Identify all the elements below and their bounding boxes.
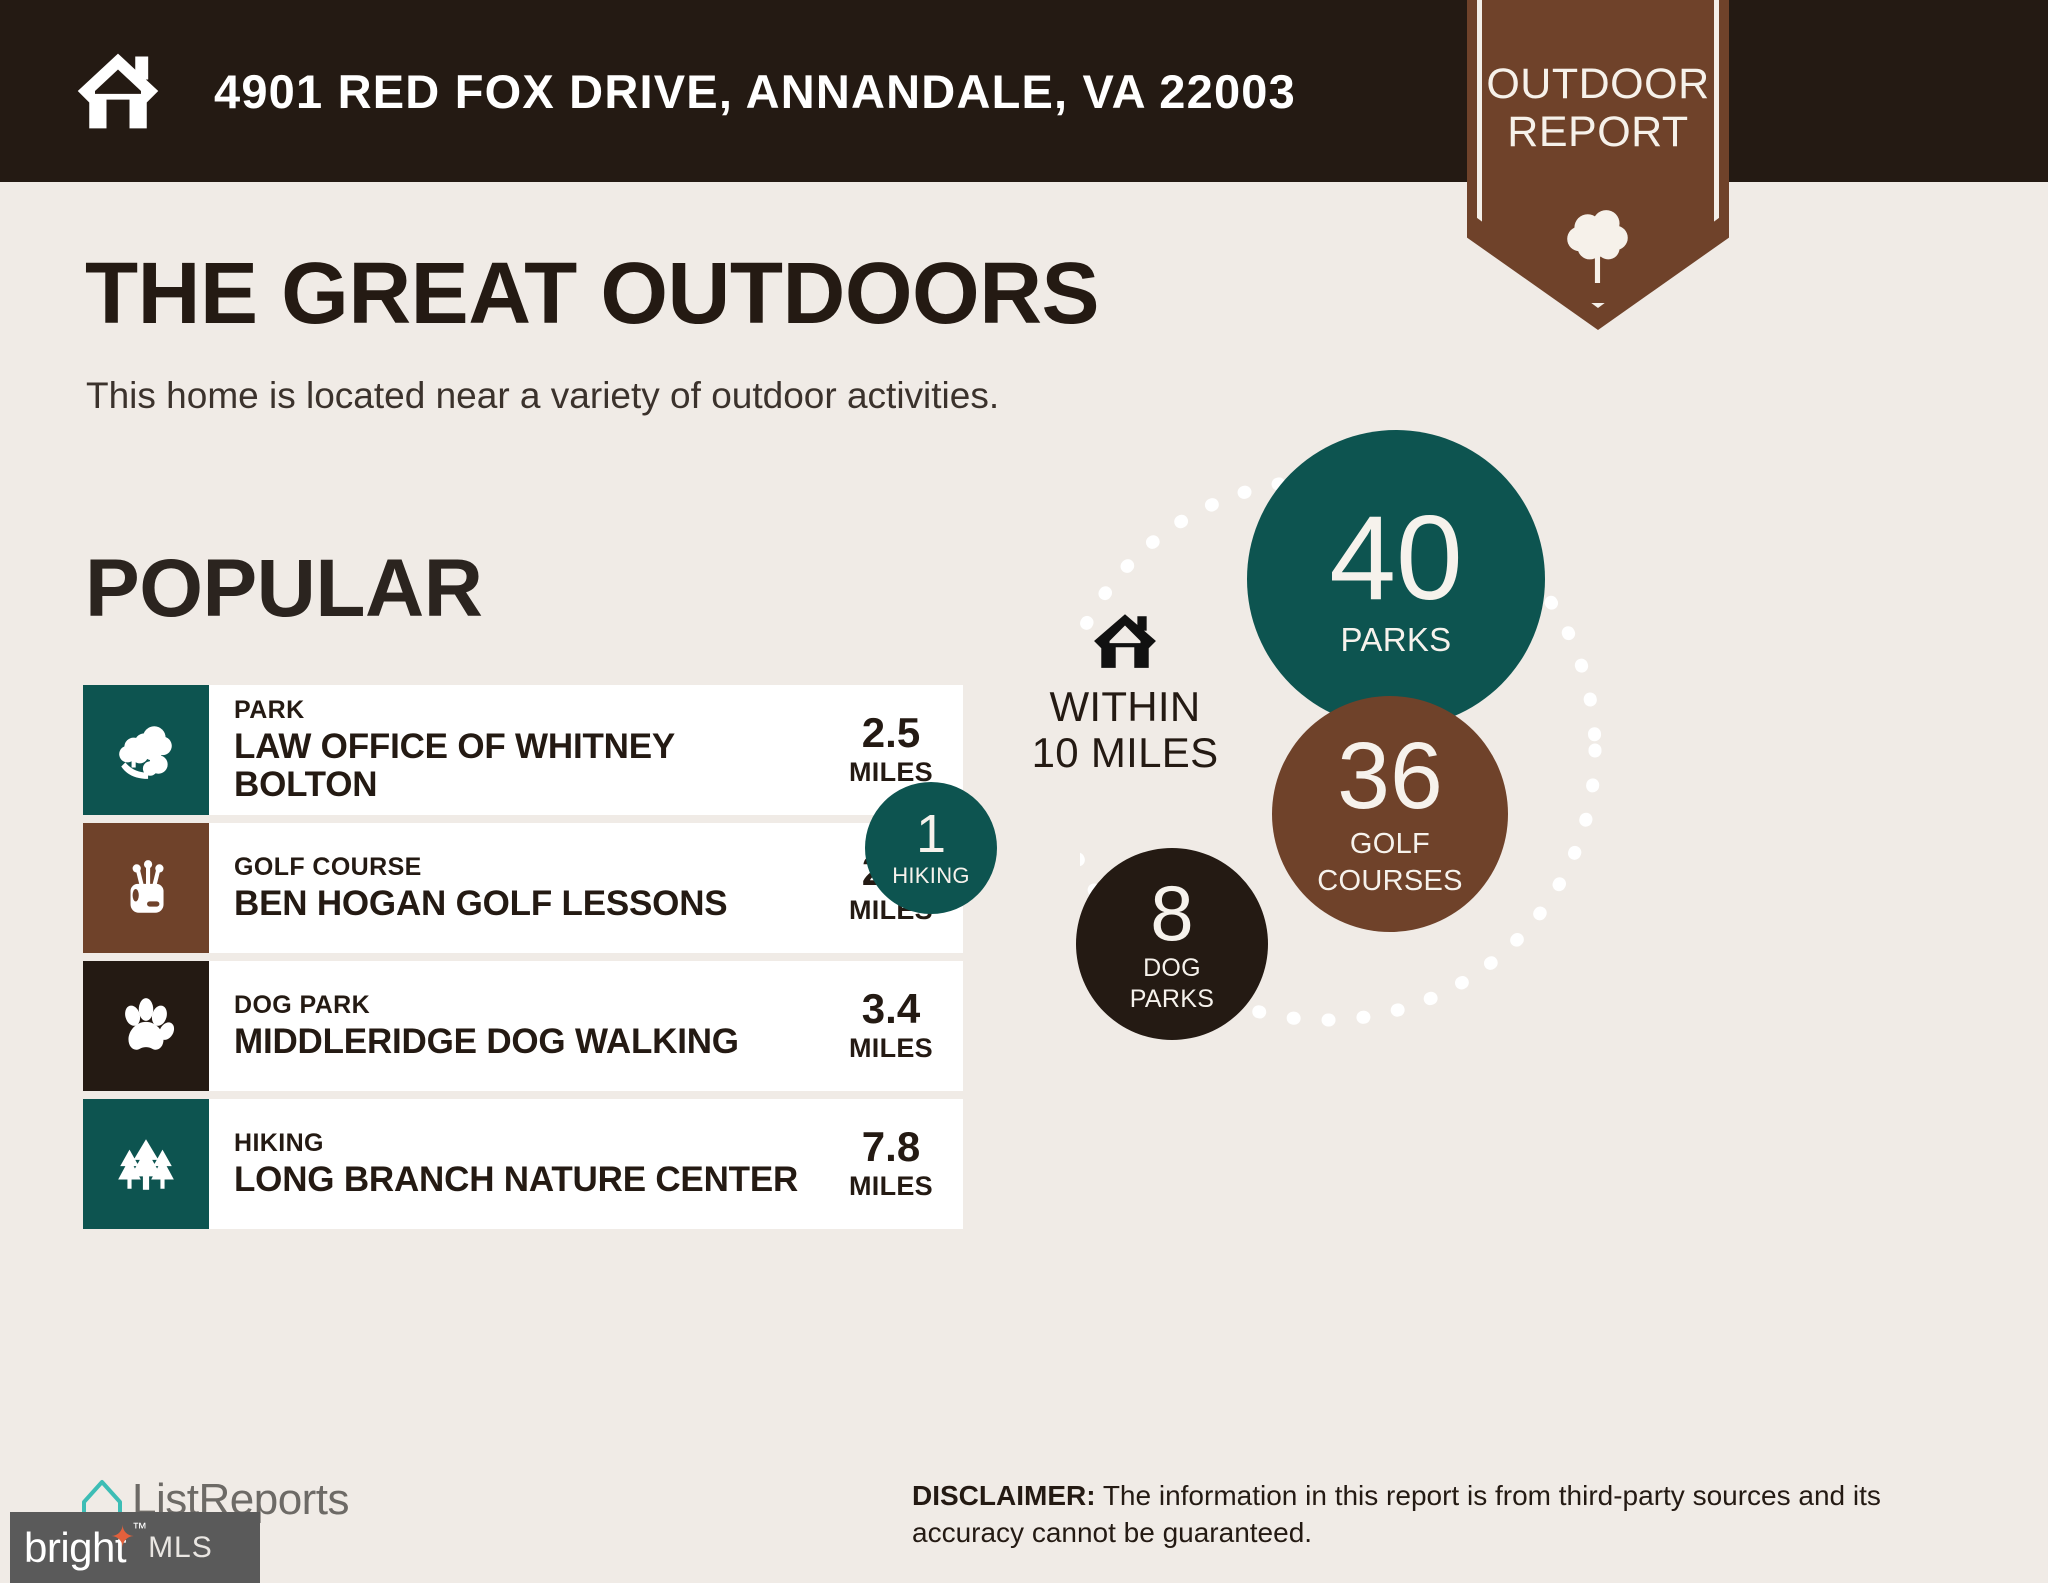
bubble-hiking-count: 1 — [916, 809, 946, 860]
star-icon: ✦ — [110, 1520, 135, 1555]
bubble-dogparks-label-line1: DOG — [1143, 955, 1201, 981]
list-item-distance: 7.8 MILES — [827, 1099, 963, 1229]
home-icon — [72, 45, 164, 137]
page-title: THE GREAT OUTDOORS — [85, 250, 1099, 337]
bubble-hiking[interactable]: 1 HIKING — [865, 782, 997, 914]
section-heading-popular: POPULAR — [85, 548, 482, 630]
bubble-golf-label-line2: COURSES — [1317, 866, 1463, 896]
list-item-category: DOG PARK — [234, 991, 821, 1020]
list-item-text: DOG PARK MIDDLERIDGE DOG WALKING — [209, 961, 827, 1091]
list-item-text: PARK LAW OFFICE OF WHITNEY BOLTON — [209, 685, 827, 815]
paw-print-icon — [83, 961, 209, 1091]
bubble-parks[interactable]: 40 PARKS — [1247, 430, 1545, 728]
list-item-name: BEN HOGAN GOLF LESSONS — [234, 885, 821, 923]
tree-icon — [1565, 205, 1631, 283]
list-item-distance: 3.4 MILES — [827, 961, 963, 1091]
home-icon — [1092, 610, 1158, 672]
distance-value: 2.5 — [862, 712, 920, 754]
mls-text: MLS — [148, 1531, 213, 1565]
list-item-text: HIKING LONG BRANCH NATURE CENTER — [209, 1099, 827, 1229]
bubble-dogparks-label-line2: PARKS — [1130, 986, 1214, 1012]
bubble-golf-courses[interactable]: 36 GOLF COURSES — [1272, 696, 1508, 932]
distance-unit: MILES — [849, 1033, 933, 1064]
list-item-name: LAW OFFICE OF WHITNEY BOLTON — [234, 728, 821, 804]
list-item-category: GOLF COURSE — [234, 853, 821, 882]
list-item-category: HIKING — [234, 1129, 821, 1158]
golf-bag-icon — [83, 823, 209, 953]
park-trees-icon — [83, 685, 209, 815]
page-subtitle: This home is located near a variety of o… — [86, 375, 999, 417]
list-item-text: GOLF COURSE BEN HOGAN GOLF LESSONS — [209, 823, 827, 953]
disclaimer-label: DISCLAIMER: — [912, 1480, 1096, 1511]
distance-value: 7.8 — [862, 1126, 920, 1168]
list-item-name: LONG BRANCH NATURE CENTER — [234, 1161, 821, 1199]
bright-mls-logo: bright ✦ ™ MLS — [10, 1512, 260, 1583]
list-item[interactable]: HIKING LONG BRANCH NATURE CENTER 7.8 MIL… — [83, 1099, 963, 1229]
bright-wordmark: bright ✦ ™ — [24, 1524, 126, 1572]
bubble-parks-label: PARKS — [1341, 623, 1452, 658]
bubble-parks-count: 40 — [1329, 501, 1462, 615]
amenity-bubble-chart: WITHIN 10 MILES 40 PARKS 36 GOLF COURSES… — [1080, 430, 1960, 1330]
property-address: 4901 RED FOX DRIVE, ANNANDALE, VA 22003 — [214, 64, 1296, 119]
disclaimer: DISCLAIMER: The information in this repo… — [912, 1478, 1972, 1552]
trademark-symbol: ™ — [132, 1520, 147, 1537]
bubble-golf-count: 36 — [1337, 731, 1443, 821]
center-text-line1: WITHIN — [960, 684, 1290, 730]
bubble-hiking-label: HIKING — [892, 864, 970, 887]
distance-value: 3.4 — [862, 988, 920, 1030]
badge-title: OUTDOOR REPORT — [1467, 60, 1729, 156]
badge-title-line2: REPORT — [1467, 108, 1729, 156]
distance-unit: MILES — [849, 1171, 933, 1202]
list-item[interactable]: GOLF COURSE BEN HOGAN GOLF LESSONS 2.8 M… — [83, 823, 963, 953]
list-item[interactable]: PARK LAW OFFICE OF WHITNEY BOLTON 2.5 MI… — [83, 685, 963, 815]
outdoor-report-badge: OUTDOOR REPORT — [1467, 0, 1729, 330]
popular-places-list: PARK LAW OFFICE OF WHITNEY BOLTON 2.5 MI… — [83, 685, 963, 1237]
bubble-dogparks-count: 8 — [1150, 876, 1193, 950]
chart-center-label: WITHIN 10 MILES — [960, 610, 1290, 776]
pine-trees-icon — [83, 1099, 209, 1229]
list-item-name: MIDDLERIDGE DOG WALKING — [234, 1023, 821, 1061]
page-header: 4901 RED FOX DRIVE, ANNANDALE, VA 22003 — [0, 0, 2048, 182]
list-item-category: PARK — [234, 696, 821, 725]
bubble-dog-parks[interactable]: 8 DOG PARKS — [1076, 848, 1268, 1040]
center-text-line2: 10 MILES — [960, 730, 1290, 776]
badge-title-line1: OUTDOOR — [1467, 60, 1729, 108]
list-item[interactable]: DOG PARK MIDDLERIDGE DOG WALKING 3.4 MIL… — [83, 961, 963, 1091]
bubble-golf-label-line1: GOLF — [1350, 829, 1430, 859]
